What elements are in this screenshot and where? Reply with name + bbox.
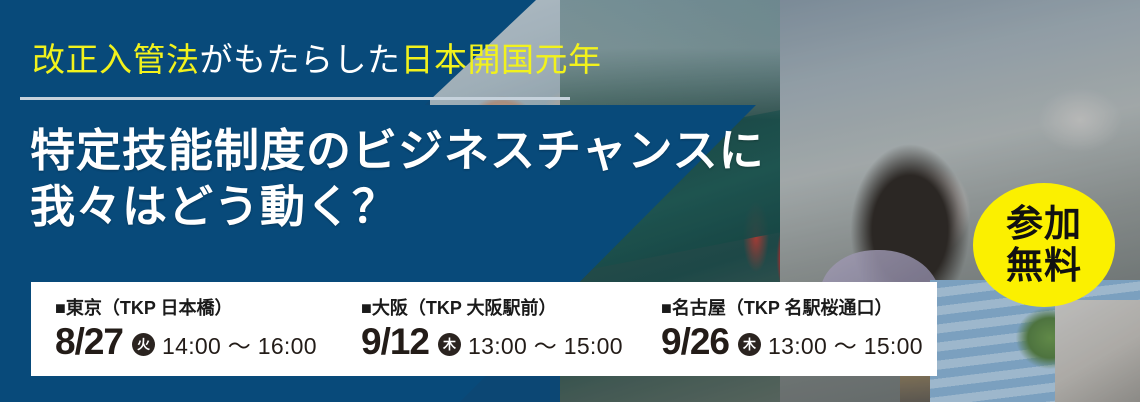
session-dayofweek-badge-nagoya: 木 [738, 333, 761, 356]
eyebrow-segment-yellow-2: 日本開国元年 [401, 43, 602, 79]
session-date-osaka: 9/12 [361, 322, 429, 362]
session-datetime-nagoya: 9/26 木 13:00 〜 15:00 [661, 322, 937, 362]
session-venue-osaka: ■大阪（TKP 大阪駅前） [361, 296, 637, 320]
session-datetime-tokyo: 8/27 火 14:00 〜 16:00 [55, 322, 337, 362]
session-dayofweek-badge-tokyo: 火 [132, 333, 155, 356]
main-headline-line-1: 特定技能制度のビジネスチャンスに [30, 123, 765, 179]
session-venue-tokyo: ■東京（TKP 日本橋） [55, 296, 337, 320]
headline-divider [20, 97, 570, 100]
eyebrow-headline: 改正入管法がもたらした日本開国元年 [32, 41, 602, 81]
session-date-nagoya: 9/26 [661, 322, 729, 362]
session-item-osaka: ■大阪（TKP 大阪駅前） 9/12 木 13:00 〜 15:00 [337, 296, 637, 362]
session-dayofweek-badge-osaka: 木 [438, 333, 461, 356]
main-headline-line-2: 我々はどう動く？ [30, 179, 765, 235]
session-time-osaka: 13:00 〜 15:00 [468, 333, 623, 359]
session-date-tokyo: 8/27 [55, 322, 123, 362]
eyebrow-segment-white: がもたらした [200, 43, 401, 79]
session-datetime-osaka: 9/12 木 13:00 〜 15:00 [361, 322, 637, 362]
free-participation-badge: 参加 無料 [973, 183, 1115, 307]
session-time-nagoya: 13:00 〜 15:00 [768, 333, 923, 359]
free-badge-line-1: 参加 [1006, 203, 1082, 245]
session-item-tokyo: ■東京（TKP 日本橋） 8/27 火 14:00 〜 16:00 [31, 296, 337, 362]
session-item-nagoya: ■名古屋（TKP 名駅桜通口） 9/26 木 13:00 〜 15:00 [637, 296, 937, 362]
session-schedule-bar: ■東京（TKP 日本橋） 8/27 火 14:00 〜 16:00 ■大阪（TK… [31, 282, 937, 376]
free-badge-line-2: 無料 [1006, 245, 1082, 287]
main-headline: 特定技能制度のビジネスチャンスに 我々はどう動く？ [30, 123, 765, 235]
seminar-banner: 改正入管法がもたらした日本開国元年 特定技能制度のビジネスチャンスに 我々はどう… [0, 0, 1140, 402]
session-time-tokyo: 14:00 〜 16:00 [162, 333, 317, 359]
session-venue-nagoya: ■名古屋（TKP 名駅桜通口） [661, 296, 937, 320]
eyebrow-segment-yellow-1: 改正入管法 [32, 43, 200, 79]
banner-content: 改正入管法がもたらした日本開国元年 特定技能制度のビジネスチャンスに 我々はどう… [0, 0, 1140, 402]
